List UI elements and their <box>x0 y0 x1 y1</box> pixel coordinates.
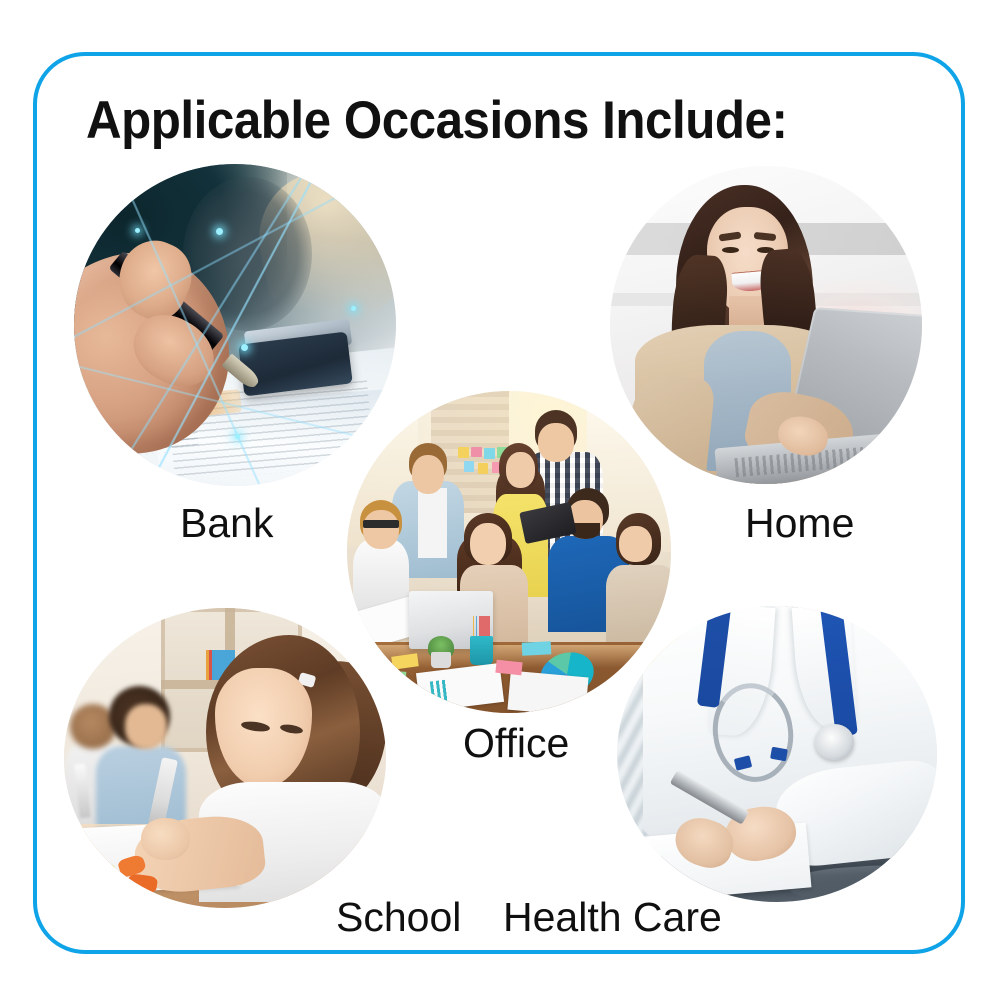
school-photo <box>64 608 386 908</box>
bank-network-node <box>351 306 356 311</box>
office-person-blue-shirt-face <box>412 455 444 494</box>
office-pencil-cup <box>470 636 493 665</box>
office-desk-sticky-note <box>522 641 552 655</box>
office-person-glasses-face <box>363 510 399 549</box>
office-person-centre-face <box>470 523 506 565</box>
occasion-image-office <box>347 391 671 713</box>
office-board-note <box>458 447 468 458</box>
office-board-note <box>464 461 474 472</box>
office-photo <box>347 391 671 713</box>
page-title: Applicable Occasions Include: <box>86 92 787 150</box>
occasion-label-school: School <box>336 894 461 941</box>
office-board-note <box>484 448 494 459</box>
product-feature-panel: Applicable Occasions Include: <box>0 0 1000 1000</box>
office-person-blue-shirt-inner <box>418 488 447 559</box>
office-person-plaid-face <box>538 423 574 462</box>
healthcare-stethoscope-chestpiece <box>815 724 853 760</box>
school-foam-letter-yellow <box>93 863 116 878</box>
occasion-label-healthcare: Health Care <box>503 894 722 941</box>
office-board-note <box>478 463 488 474</box>
occasion-image-school <box>64 608 386 908</box>
occasion-label-office: Office <box>463 720 569 767</box>
office-desk-sticky-note <box>382 670 405 682</box>
occasion-label-home: Home <box>745 500 854 547</box>
office-person-yellow-face <box>506 452 535 487</box>
school-classmate-face-2 <box>125 704 167 749</box>
office-glasses-icon <box>363 520 399 528</box>
office-board-note <box>471 447 481 458</box>
office-person-right-face <box>619 526 651 561</box>
office-chart-paper-2 <box>507 671 588 713</box>
occasion-label-bank: Bank <box>180 500 273 547</box>
office-plant-pot <box>431 652 450 668</box>
school-girl-hand <box>141 818 189 860</box>
